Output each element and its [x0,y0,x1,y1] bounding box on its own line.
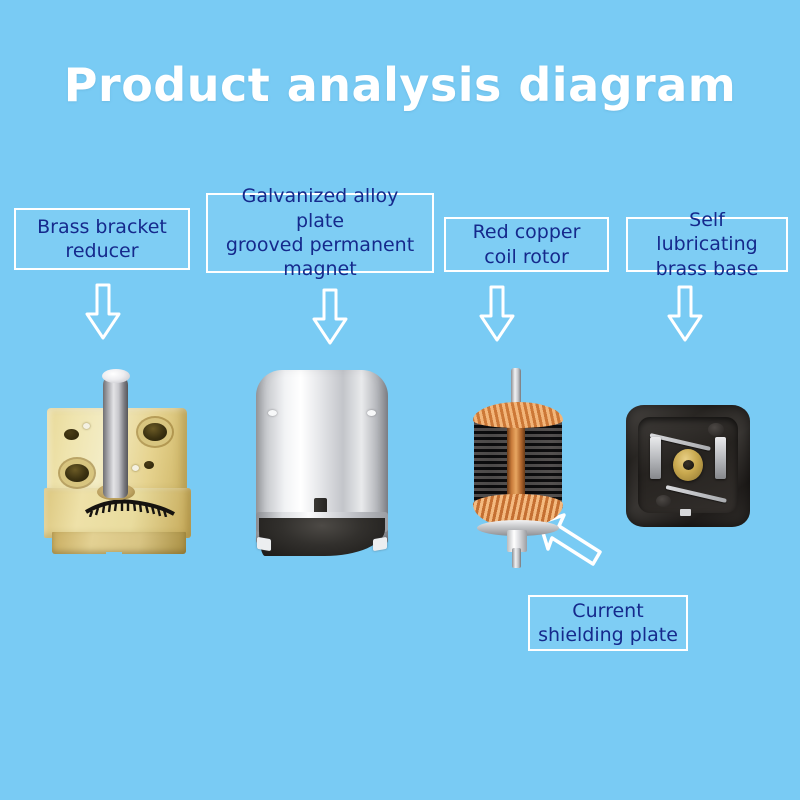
reducer-pin [132,465,139,471]
housing-foot [373,537,387,551]
arrow-down-icon-3 [478,285,516,343]
label-red-copper-coil-rotor[interactable]: Red copper coil rotor [444,217,609,272]
housing-foot [257,537,271,551]
component-brass-base-endcap [626,405,750,527]
endcap-brass-bushing [673,449,703,481]
page-title: Product analysis diagram [0,58,800,112]
housing-open-end [259,518,385,556]
label-current-shielding-plate[interactable]: Current shielding plate [528,595,688,651]
housing-vent-hole [367,410,376,416]
label-brass-bracket-reducer[interactable]: Brass bracket reducer [14,208,190,270]
rotor-copper-winding-top [473,402,563,428]
label-line: Current [538,599,678,623]
housing-vent-hole [268,410,277,416]
endcap-brush-contact [650,437,661,479]
reducer-threaded-hole [65,464,89,482]
label-line: Self lubricating [636,208,778,257]
label-line: reducer [37,239,167,263]
endcap-nub [708,423,724,436]
component-copper-rotor [463,368,573,568]
reducer-shaft-tip [102,369,130,383]
arrow-down-icon-4 [666,285,704,343]
label-line: Galvanized alloy plate [216,184,424,233]
reducer-bottom-plate [52,532,186,554]
label-line: shielding plate [538,623,678,647]
arrow-down-icon-2 [311,288,349,346]
reducer-pin [83,423,90,429]
label-line: magnet [216,257,424,281]
label-line: brass base [636,257,778,281]
endcap-brush-contact [715,437,726,479]
label-line: grooved permanent [216,233,424,257]
component-galvanized-housing [256,370,388,560]
rotor-shaft-bottom [512,548,521,568]
label-galvanized-alloy-plate[interactable]: Galvanized alloy plate grooved permanent… [206,193,434,273]
diagram-canvas: Product analysis diagram Brass bracket r… [0,0,800,800]
reducer-dimple [144,461,154,469]
reducer-threaded-hole [143,423,167,441]
reducer-gear-teeth [84,497,176,517]
component-brass-bracket-reducer [40,366,200,566]
reducer-dimple [64,429,79,440]
endcap-terminal-pad [680,509,691,516]
label-line: Red copper [473,220,581,244]
label-line: Brass bracket [37,215,167,239]
arrow-down-icon-1 [84,283,122,341]
label-line: coil rotor [473,245,581,269]
endcap-nub [656,495,671,507]
reducer-output-shaft [103,374,128,498]
label-self-lubricating-brass-base[interactable]: Self lubricating brass base [626,217,788,272]
